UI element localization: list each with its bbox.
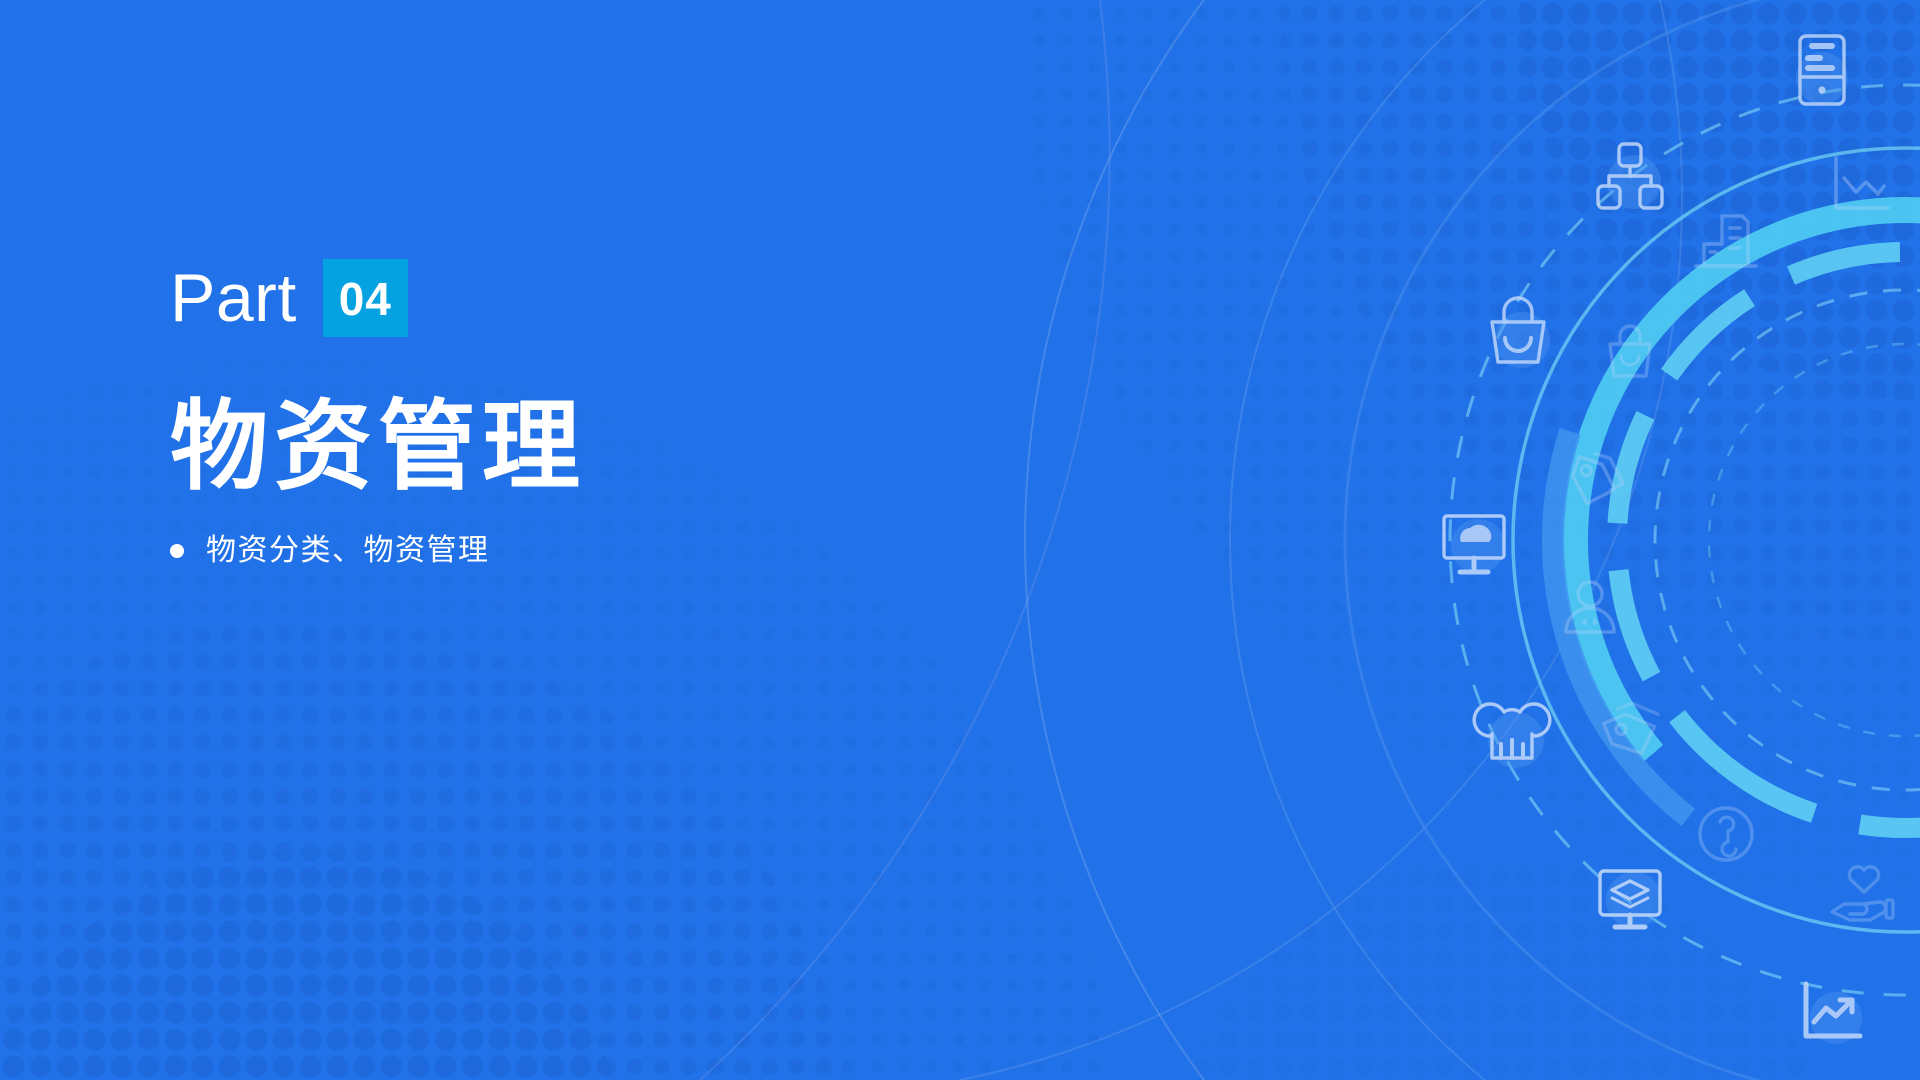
page-title: 物资管理 — [170, 396, 1070, 498]
layers-monitor-icon — [1600, 871, 1660, 927]
trend-up-chart-icon — [1806, 984, 1860, 1036]
slide-root: Part 04 物资管理 物资分类、物资管理 — [0, 0, 1920, 1080]
bullet-icon — [170, 544, 184, 558]
tablet-device-icon — [1800, 36, 1844, 104]
sitemap-icon — [1598, 144, 1662, 208]
user-avatar-icon — [1566, 582, 1614, 632]
price-tag-icon — [1601, 696, 1670, 763]
shopping-bag-icon — [1492, 298, 1544, 362]
heart-hand-icon — [1832, 867, 1893, 920]
building-icon — [1696, 216, 1756, 266]
cloud-monitor-icon — [1444, 516, 1504, 572]
loop-circle-icon — [1700, 808, 1752, 860]
subtitle-label: 物资分类、物资管理 — [206, 536, 490, 566]
small-bag-icon — [1610, 326, 1650, 376]
part-eyebrow: Part 04 — [170, 262, 1070, 334]
subtitle-row: 物资分类、物资管理 — [170, 536, 1070, 566]
line-chart-down-icon — [1836, 158, 1888, 208]
part-label: Part — [170, 264, 297, 332]
part-number-badge: 04 — [323, 259, 408, 337]
title-block: Part 04 物资管理 物资分类、物资管理 — [170, 262, 1070, 566]
chef-hat-icon — [1474, 704, 1550, 758]
price-tags-icon — [1566, 449, 1629, 512]
